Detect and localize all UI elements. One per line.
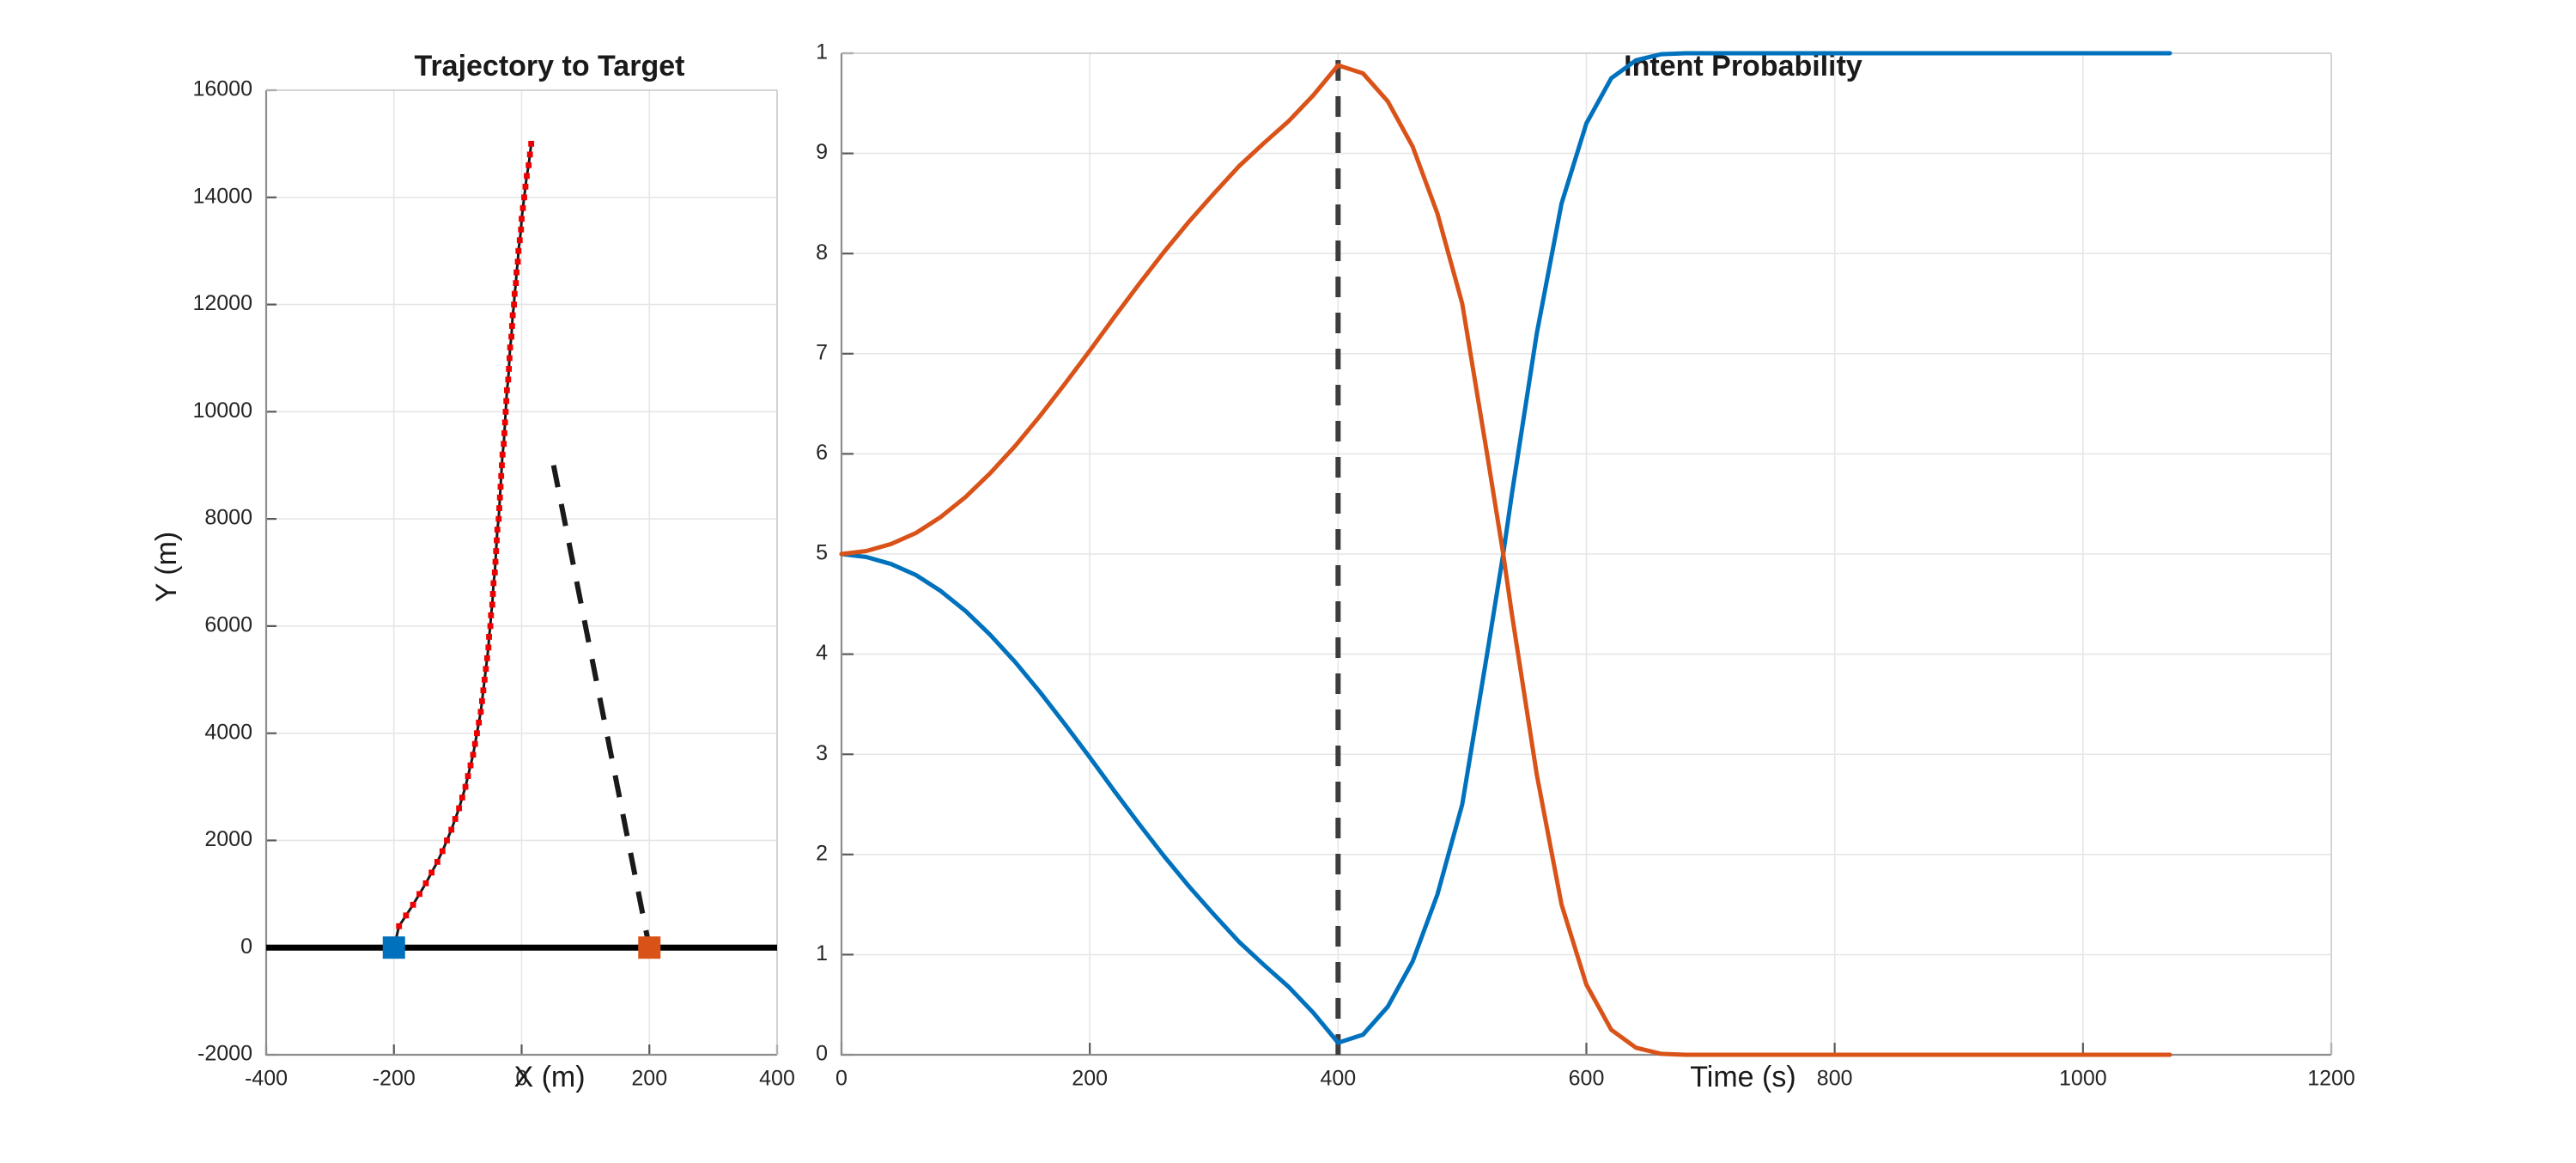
trajectory-point-marker [520, 205, 526, 211]
trajectory-point-marker [511, 301, 517, 307]
trajectory-point-marker [490, 591, 496, 597]
trajectory-y-axis-label: Y (m) [150, 532, 183, 602]
trajectory-point-marker [423, 880, 429, 886]
trajectory-point-marker [502, 419, 508, 425]
x-tick-label: 200 [1072, 1067, 1108, 1091]
trajectory-point-marker [521, 194, 527, 200]
trajectory-point-marker [528, 141, 534, 147]
series-blue-intent [841, 53, 2170, 1043]
x-tick-label: 600 [1569, 1067, 1605, 1091]
intent-probability-chart: Intent Probability 00.10.20.30.40.50.60.… [816, 0, 2576, 1163]
trajectory-point-marker [463, 784, 469, 790]
figure-canvas: Trajectory to Target -200002000400060008… [0, 0, 2576, 1163]
y-tick-label: 0.4 [816, 641, 828, 665]
intent-tick-labels: 00.10.20.30.40.50.60.70.80.9102004006008… [816, 40, 2355, 1091]
trajectory-panel: Trajectory to Target -200002000400060008… [0, 0, 816, 1163]
intent-panel: Intent Probability 00.10.20.30.40.50.60.… [816, 0, 2576, 1163]
trajectory-point-marker [468, 763, 474, 769]
y-tick-label: 12000 [192, 291, 252, 315]
trajectory-point-marker [488, 623, 494, 629]
trajectory-point-marker [453, 816, 459, 822]
trajectory-point-marker [495, 527, 501, 533]
trajectory-point-marker [498, 473, 504, 479]
trajectory-point-marker [410, 902, 416, 908]
y-tick-label: 0.9 [816, 140, 828, 164]
trajectory-point-marker [523, 184, 529, 190]
trajectory-point-marker [503, 398, 509, 404]
trajectory-point-marker [479, 698, 485, 704]
trajectory-point-marker [403, 912, 409, 918]
trajectory-point-marker [492, 569, 498, 575]
trajectory-point-marker [494, 538, 500, 544]
y-tick-label: 0 [816, 1042, 828, 1066]
trajectory-point-marker [527, 151, 533, 157]
trajectory-point-marker [509, 323, 515, 329]
trajectory-point-marker [440, 849, 446, 855]
trajectory-point-marker [428, 869, 434, 875]
trajectory-point-marker [448, 827, 454, 833]
x-tick-label: -200 [373, 1067, 416, 1091]
trajectory-point-marker [508, 334, 514, 340]
y-tick-label: 2000 [204, 827, 252, 851]
y-tick-label: 8000 [204, 506, 252, 530]
trajectory-point-marker [524, 173, 530, 179]
y-tick-label: 0.6 [816, 441, 828, 465]
trajectory-point-marker [500, 452, 506, 458]
x-tick-label: 400 [759, 1067, 795, 1091]
trajectory-point-marker [459, 795, 465, 801]
launch-marker [383, 936, 405, 959]
series-orange-intent [841, 65, 2170, 1055]
y-tick-label: 1 [816, 40, 828, 64]
trajectory-point-marker [444, 837, 450, 843]
trajectory-point-marker [482, 677, 488, 683]
trajectory-point-marker [497, 495, 503, 501]
trajectory-point-marker [504, 387, 510, 393]
trajectory-point-marker [486, 634, 492, 640]
trajectory-point-marker [493, 559, 499, 565]
y-tick-label: 0.7 [816, 340, 828, 364]
y-tick-label: 10000 [192, 399, 252, 423]
trajectory-point-marker [501, 430, 507, 436]
x-tick-label: -400 [245, 1067, 288, 1091]
trajectory-x-axis-label: X (m) [513, 1061, 585, 1093]
y-tick-label: -2000 [197, 1042, 252, 1066]
x-tick-label: 800 [1817, 1067, 1853, 1091]
trajectory-point-marker [513, 270, 519, 276]
trajectory-point-marker [498, 484, 504, 490]
y-tick-label: 14000 [192, 184, 252, 208]
trajectory-point-marker [518, 227, 524, 233]
intent-x-axis-label: Time (s) [1690, 1061, 1795, 1093]
trajectory-point-marker [501, 441, 507, 447]
trajectory-point-marker [510, 313, 516, 319]
x-tick-label: 1000 [2059, 1067, 2107, 1091]
y-tick-label: 0.1 [816, 941, 828, 965]
trajectory-point-marker [490, 581, 496, 587]
x-tick-label: 200 [631, 1067, 667, 1091]
trajectory-point-marker [485, 644, 491, 650]
trajectory-point-marker [478, 709, 484, 715]
y-tick-label: 16000 [192, 77, 252, 101]
trajectory-point-marker [476, 720, 482, 726]
trajectory-title: Trajectory to Target [415, 50, 685, 82]
trajectory-point-marker [493, 548, 499, 554]
target-marker [638, 936, 660, 959]
trajectory-point-marker [496, 505, 502, 511]
trajectory-point-marker [513, 280, 519, 286]
line-of-sight-dashed [554, 466, 650, 948]
y-tick-label: 0.8 [816, 241, 828, 265]
intent-gridlines [841, 53, 2331, 1055]
trajectory-point-marker [512, 291, 518, 297]
x-tick-label: 0 [835, 1067, 848, 1091]
trajectory-point-marker [495, 516, 501, 522]
trajectory-chart: Trajectory to Target -200002000400060008… [0, 0, 816, 1163]
y-tick-label: 6000 [204, 612, 252, 636]
trajectory-point-marker [499, 462, 505, 468]
trajectory-point-marker [472, 741, 478, 747]
trajectory-point-marker [483, 666, 489, 672]
trajectory-point-marker [515, 259, 521, 265]
y-tick-label: 0.5 [816, 541, 828, 565]
trajectory-point-marker [507, 356, 513, 362]
x-tick-label: 400 [1320, 1067, 1356, 1091]
y-tick-label: 0.3 [816, 741, 828, 765]
trajectory-point-marker [416, 891, 422, 897]
trajectory-line [394, 143, 532, 947]
trajectory-point-marker [465, 773, 471, 779]
trajectory-point-marker [480, 687, 486, 693]
trajectory-point-marker [488, 612, 494, 618]
trajectory-point-marker [506, 366, 512, 372]
x-tick-label: 1200 [2307, 1067, 2355, 1091]
trajectory-point-marker [471, 752, 477, 758]
trajectory-point-marker [503, 409, 509, 415]
trajectory-point-marker [505, 377, 511, 383]
y-tick-label: 0.2 [816, 841, 828, 865]
trajectory-point-marker [456, 806, 462, 812]
trajectory-point-marker [515, 248, 521, 254]
trajectory-point-marker [434, 859, 440, 865]
trajectory-point-marker [517, 237, 523, 243]
y-tick-label: 4000 [204, 720, 252, 744]
y-tick-label: 0 [240, 935, 252, 959]
trajectory-point-marker [507, 344, 513, 350]
trajectory-point-marker [519, 216, 525, 222]
trajectory-point-marker [474, 730, 480, 736]
trajectory-point-marker [526, 162, 532, 168]
trajectory-point-marker [489, 602, 495, 608]
trajectory-point-marker [484, 655, 490, 661]
trajectory-point-marker [396, 923, 402, 929]
